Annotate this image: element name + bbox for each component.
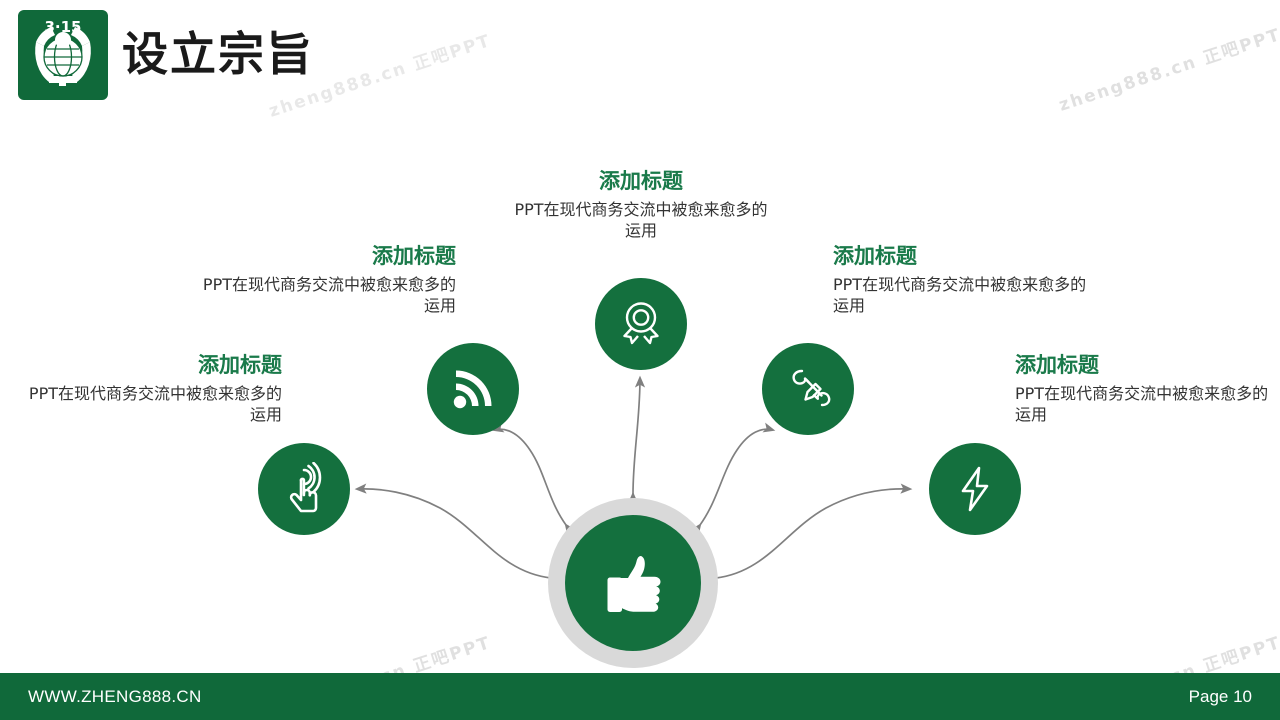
logo-315-text: 3·15 (44, 18, 81, 36)
arrow-hub-to-medal (633, 378, 640, 494)
label-medal: 添加标题 PPT在现代商务交流中被愈来愈多的运用 (511, 168, 771, 241)
arrow-hub-to-bolt (716, 489, 910, 578)
node-lightning-bolt[interactable] (929, 443, 1021, 535)
315-consumer-rights-logo: 3·15 (18, 10, 108, 100)
award-medal-icon (616, 299, 666, 349)
arrow-hub-to-wifi (494, 429, 566, 525)
phone-pencil-icon (782, 363, 834, 415)
label-bolt-body: PPT在现代商务交流中被愈来愈多的运用 (1015, 383, 1275, 425)
label-phone: 添加标题 PPT在现代商务交流中被愈来愈多的运用 (833, 243, 1093, 316)
wifi-signal-icon (447, 363, 499, 415)
lightning-bolt-icon (951, 465, 999, 513)
label-medal-body: PPT在现代商务交流中被愈来愈多的运用 (511, 199, 771, 241)
node-wifi-signal[interactable] (427, 343, 519, 435)
thumbs-up-icon (595, 545, 671, 621)
footer-page-number: Page 10 (1189, 673, 1252, 720)
slide-header: 3·15 设立宗旨 (0, 0, 1280, 120)
arrow-hub-to-touch (357, 489, 551, 578)
footer-website-url[interactable]: WWW.ZHENG888.CN (28, 673, 202, 720)
label-bolt: 添加标题 PPT在现代商务交流中被愈来愈多的运用 (1015, 352, 1275, 425)
label-wifi-title: 添加标题 (196, 243, 456, 271)
slide-footer: WWW.ZHENG888.CN Page 10 (0, 673, 1280, 720)
label-bolt-title: 添加标题 (1015, 352, 1275, 380)
label-touch-body: PPT在现代商务交流中被愈来愈多的运用 (22, 383, 282, 425)
label-wifi: 添加标题 PPT在现代商务交流中被愈来愈多的运用 (196, 243, 456, 316)
label-touch-title: 添加标题 (22, 352, 282, 380)
node-touch-hand[interactable] (258, 443, 350, 535)
label-touch: 添加标题 PPT在现代商务交流中被愈来愈多的运用 (22, 352, 282, 425)
slide: 3·15 设立宗旨 (0, 0, 1280, 720)
arrow-hub-to-phone (700, 429, 773, 525)
node-phone-pencil[interactable] (762, 343, 854, 435)
label-phone-title: 添加标题 (833, 243, 1093, 271)
hub-node-thumbs-up[interactable] (565, 515, 701, 651)
label-phone-body: PPT在现代商务交流中被愈来愈多的运用 (833, 274, 1093, 316)
logo-315-icon: 3·15 (18, 10, 108, 100)
label-medal-title: 添加标题 (511, 168, 771, 196)
touch-hand-icon (277, 462, 331, 516)
label-wifi-body: PPT在现代商务交流中被愈来愈多的运用 (196, 274, 456, 316)
node-award-medal[interactable] (595, 278, 687, 370)
page-title: 设立宗旨 (122, 17, 314, 91)
